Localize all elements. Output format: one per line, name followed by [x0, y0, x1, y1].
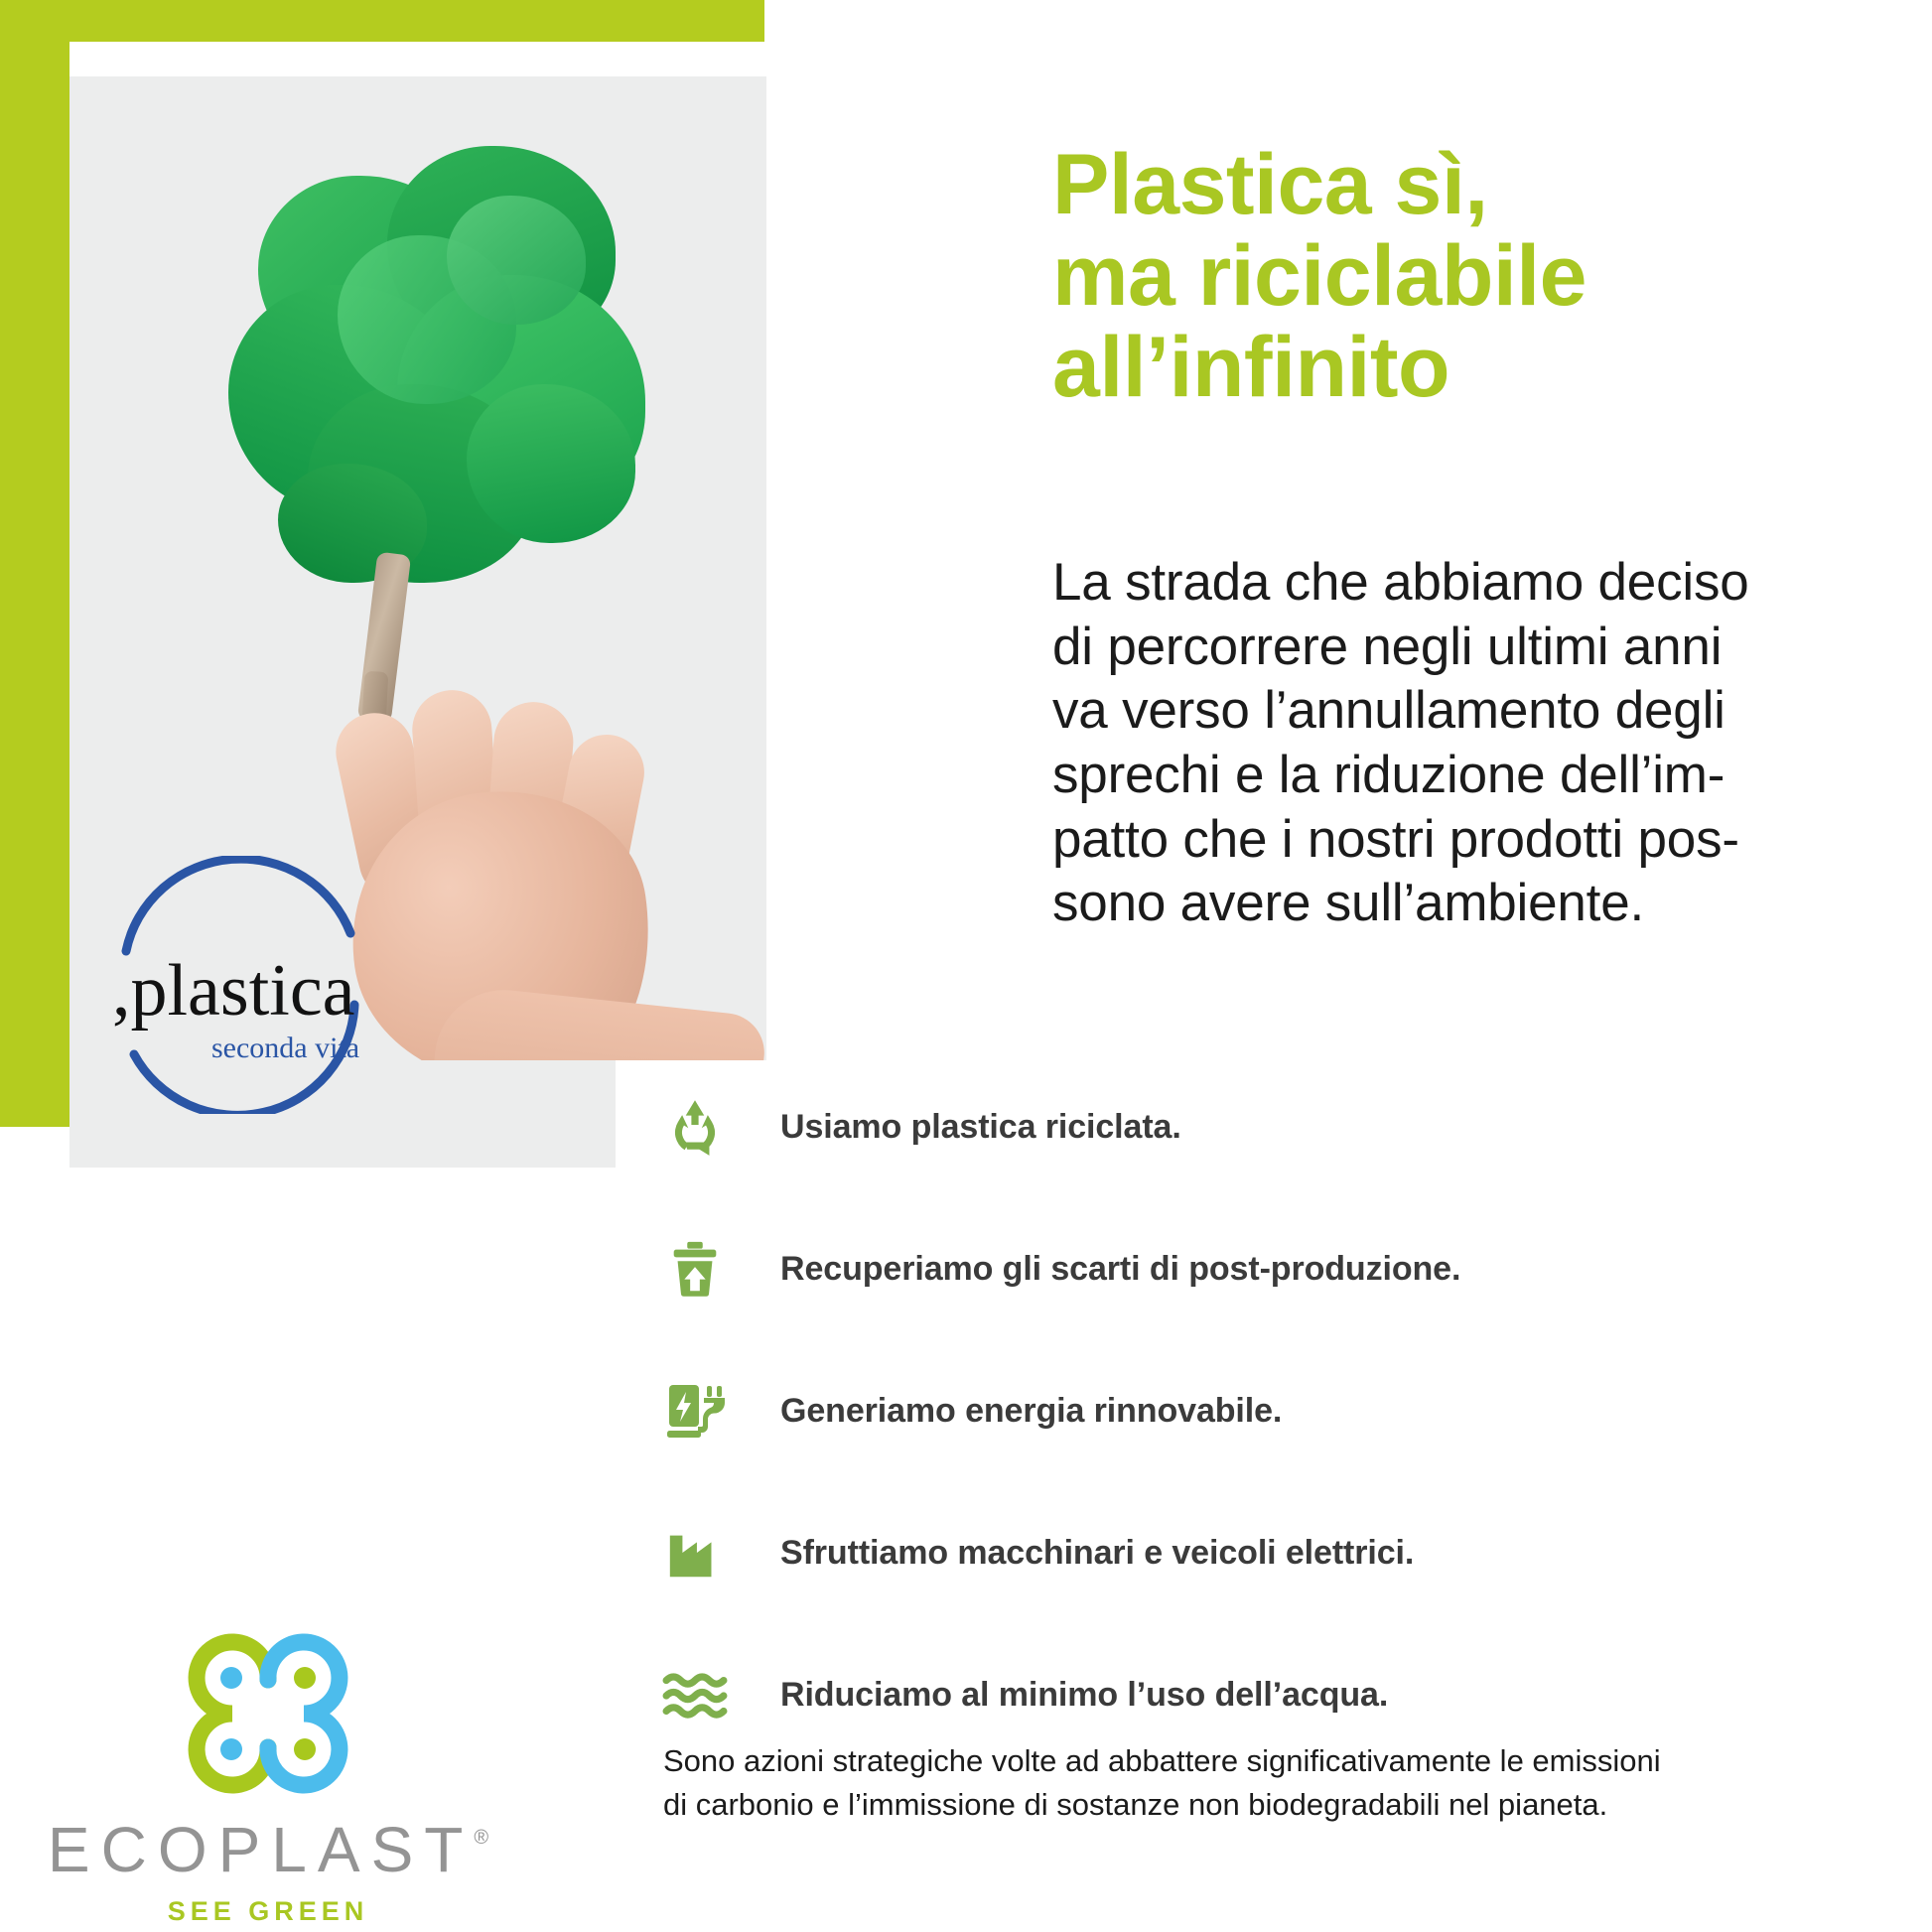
list-item: Riduciamo al minimo l’uso dell’acqua. — [655, 1655, 1886, 1734]
intro-paragraph: La strada che abbiamo deciso di percorre… — [1052, 551, 1847, 936]
body-line-3: va verso l’annullamento degli — [1052, 679, 1847, 744]
body-line-1: La strada che abbiamo deciso — [1052, 551, 1847, 616]
plastica-seconda-vita-badge: ,plastica seconda vita — [94, 856, 382, 1114]
footnote-paragraph: Sono azioni strategiche volte ad abbatte… — [663, 1739, 1894, 1827]
trash-bin-arrow-up-icon — [655, 1229, 735, 1309]
list-item-label: Usiamo plastica riciclata. — [780, 1108, 1181, 1147]
list-item: Usiamo plastica riciclata. — [655, 1087, 1886, 1167]
headline-line-3: all’infinito — [1052, 322, 1886, 413]
list-item: Recuperiamo gli scarti di post-produzion… — [655, 1229, 1886, 1309]
svg-text:seconda vita: seconda vita — [211, 1032, 359, 1064]
registered-mark: ® — [474, 1827, 488, 1849]
list-item-label: Recuperiamo gli scarti di post-produzion… — [780, 1250, 1460, 1289]
body-line-4: sprechi e la riduzione dell’im- — [1052, 744, 1847, 808]
list-item-label: Sfruttiamo macchinari e veicoli elettric… — [780, 1534, 1414, 1573]
headline-line-1: Plastica sì, — [1052, 139, 1886, 230]
list-item: Generiamo energia rinnovabile. — [655, 1371, 1886, 1450]
body-line-2: di percorrere negli ultimi anni — [1052, 616, 1847, 680]
green-corner-block — [0, 0, 764, 42]
green-left-strip — [0, 42, 69, 1127]
footnote-line-1: Sono azioni strategiche volte ad abbatte… — [663, 1739, 1894, 1783]
ecoplast-logo: ECOPLAST® SEE GREEN — [10, 1618, 526, 1916]
commitments-list: Usiamo plastica riciclata. Recuperiamo g… — [655, 1087, 1886, 1734]
water-waves-icon — [655, 1655, 735, 1734]
ev-charging-station-icon — [655, 1371, 735, 1450]
poster-canvas: ,plastica seconda vita Plastica sì, ma r… — [0, 0, 1932, 1932]
ecoplast-butterfly-icon — [164, 1618, 372, 1807]
list-item-label: Generiamo energia rinnovabile. — [780, 1392, 1282, 1431]
ecoplast-wordmark: ECOPLAST® — [10, 1813, 526, 1886]
page-title: Plastica sì, ma riciclabile all’infinito — [1052, 139, 1886, 413]
footnote-line-2: di carbonio e l’immissione di sostanze n… — [663, 1783, 1894, 1827]
list-item: Sfruttiamo macchinari e veicoli elettric… — [655, 1513, 1886, 1592]
ecoplast-tagline: SEE GREEN — [10, 1896, 526, 1927]
factory-icon — [655, 1513, 735, 1592]
recycle-arrows-icon — [655, 1087, 735, 1167]
body-line-5: patto che i nostri prodotti pos- — [1052, 808, 1847, 873]
crumpled-plastic-crown — [218, 136, 645, 603]
wordmark-text: ECOPLAST — [48, 1814, 474, 1885]
list-item-label: Riduciamo al minimo l’uso dell’acqua. — [780, 1676, 1388, 1715]
svg-text:,plastica: ,plastica — [112, 950, 355, 1032]
headline-line-2: ma riciclabile — [1052, 230, 1886, 322]
body-line-6: sono avere sull’ambiente. — [1052, 872, 1847, 936]
